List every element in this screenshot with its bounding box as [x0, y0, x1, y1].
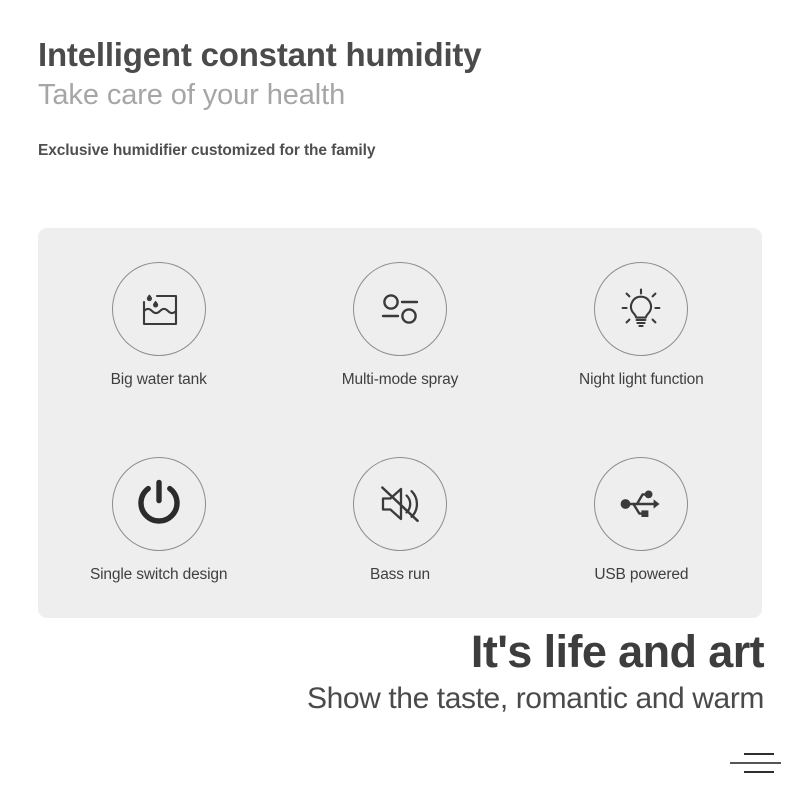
page-tagline: Exclusive humidifier customized for the … [38, 142, 738, 160]
feature-item-big-water-tank[interactable]: Big water tank [38, 262, 279, 389]
three-lines-icon [730, 752, 782, 778]
footer-subtitle: Show the taste, romantic and warm [0, 681, 764, 716]
page-title: Intelligent constant humidity [38, 36, 738, 75]
feature-item-single-switch-design[interactable]: Single switch design [38, 457, 279, 584]
feature-label: USB powered [594, 566, 688, 584]
icon-circle [353, 457, 447, 551]
feature-card: Big water tank [38, 228, 762, 618]
light-bulb-icon [615, 283, 667, 335]
feature-item-multi-mode-spray[interactable]: Multi-mode spray [279, 262, 520, 389]
feature-item-night-light-function[interactable]: Night light function [521, 262, 762, 389]
usb-icon [615, 478, 667, 530]
sliders-icon [374, 283, 426, 335]
header: Intelligent constant humidity Take care … [38, 36, 738, 160]
feature-label: Bass run [370, 566, 430, 584]
feature-label: Big water tank [111, 371, 207, 389]
feature-item-bass-run[interactable]: Bass run [279, 457, 520, 584]
icon-circle [353, 262, 447, 356]
three-lines-icon-line-middle [730, 762, 781, 764]
feature-label: Night light function [579, 371, 704, 389]
three-lines-icon-line-bottom [744, 771, 774, 773]
power-button-icon [131, 476, 187, 532]
icon-circle [112, 262, 206, 356]
page-subtitle: Take care of your health [38, 77, 738, 114]
water-tank-icon [133, 283, 185, 335]
icon-circle [594, 457, 688, 551]
feature-grid: Big water tank [38, 228, 762, 618]
three-lines-icon-line-top [744, 753, 774, 755]
feature-item-usb-powered[interactable]: USB powered [521, 457, 762, 584]
footer: It's life and art Show the taste, romant… [0, 628, 800, 716]
speaker-mute-icon [374, 478, 426, 530]
feature-label: Single switch design [90, 566, 227, 584]
icon-circle [112, 457, 206, 551]
promo-page: Intelligent constant humidity Take care … [0, 0, 800, 800]
footer-title: It's life and art [0, 628, 764, 677]
feature-label: Multi-mode spray [342, 371, 458, 389]
icon-circle [594, 262, 688, 356]
